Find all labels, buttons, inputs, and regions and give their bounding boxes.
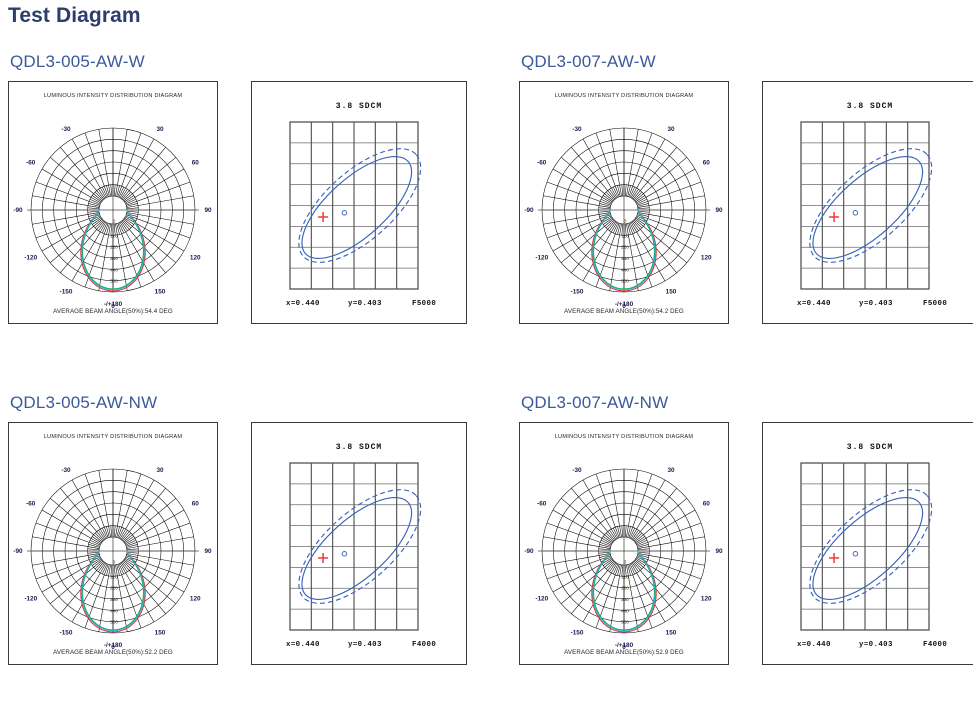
polar-radial-label: 330 (110, 597, 118, 602)
polar-radial-label: 330 (621, 256, 629, 261)
polar-angle-label: -60 (537, 160, 547, 167)
chromaticity-y-label: y=0.403 (348, 641, 382, 649)
page-title: Test Diagram (8, 4, 141, 28)
polar-angle-label: 150 (666, 630, 677, 637)
measured-point-icon (342, 552, 347, 557)
sdcm-chart: 3.8 SDCMx=0.440y=0.403F4000 (252, 423, 466, 664)
product-name: QDL3-005-AW-NW (10, 393, 467, 413)
chromaticity-x-label: x=0.440 (797, 300, 831, 308)
polar-radial-label: 550 (110, 620, 118, 625)
average-beam-angle-label: AVERAGE BEAM ANGLE(50%):52.2 DEG (53, 649, 173, 656)
luminous-intensity-panel: LUMINOUS INTENSITY DISTRIBUTION DIAGRAM-… (519, 81, 729, 324)
polar-angle-label: 120 (190, 596, 201, 603)
sdcm-panel: 3.8 SDCMx=0.440y=0.403F4000 (251, 422, 467, 665)
polar-title: LUMINOUS INTENSITY DISTRIBUTION DIAGRAM (44, 93, 183, 99)
polar-title: LUMINOUS INTENSITY DISTRIBUTION DIAGRAM (44, 434, 183, 440)
chromaticity-y-label: y=0.403 (859, 300, 893, 308)
polar-chart: LUMINOUS INTENSITY DISTRIBUTION DIAGRAM-… (9, 423, 217, 664)
cct-bin-label: F5000 (923, 300, 947, 308)
sdcm-panel: 3.8 SDCMx=0.440y=0.403F4000 (762, 422, 973, 665)
polar-chart: LUMINOUS INTENSITY DISTRIBUTION DIAGRAM-… (520, 423, 728, 664)
panel-row: LUMINOUS INTENSITY DISTRIBUTION DIAGRAM-… (8, 81, 467, 324)
polar-angle-label: 120 (190, 255, 201, 262)
average-beam-angle-label: AVERAGE BEAM ANGLE(50%):54.2 DEG (564, 308, 684, 315)
polar-angle-label: -90 (524, 207, 534, 214)
polar-radial-label: 440 (621, 267, 629, 272)
polar-radial-label: 440 (110, 608, 118, 613)
luminous-intensity-panel: LUMINOUS INTENSITY DISTRIBUTION DIAGRAM-… (8, 81, 218, 324)
polar-angle-label: 90 (715, 207, 723, 214)
polar-radial-label: 220 (110, 586, 118, 591)
sdcm-panel: 3.8 SDCMx=0.440y=0.403F5000 (251, 81, 467, 324)
sdcm-title: 3.8 SDCM (336, 443, 382, 452)
chromaticity-x-label: x=0.440 (286, 300, 320, 308)
polar-angle-label: -120 (535, 596, 548, 603)
average-beam-angle-label: AVERAGE BEAM ANGLE(50%):52.9 DEG (564, 649, 684, 656)
polar-angle-label: 150 (155, 630, 166, 637)
sdcm-title: 3.8 SDCM (336, 102, 382, 111)
polar-radial-label: 220 (621, 586, 629, 591)
target-cross-icon (318, 212, 328, 222)
cct-bin-label: F4000 (923, 641, 947, 649)
polar-radial-label: 0 (113, 560, 116, 565)
cct-bin-label: F5000 (412, 300, 436, 308)
target-cross-icon (829, 553, 839, 563)
polar-angle-label: 120 (701, 255, 712, 262)
polar-radial-label: 330 (621, 597, 629, 602)
cct-bin-label: F4000 (412, 641, 436, 649)
panel-row: LUMINOUS INTENSITY DISTRIBUTION DIAGRAM-… (519, 422, 973, 665)
measured-point-icon (853, 211, 858, 216)
polar-angle-label: -150 (571, 630, 584, 637)
polar-radial-label: 220 (110, 245, 118, 250)
measured-point-icon (853, 552, 858, 557)
polar-title: LUMINOUS INTENSITY DISTRIBUTION DIAGRAM (555, 93, 694, 99)
sdcm-panel: 3.8 SDCMx=0.440y=0.403F5000 (762, 81, 973, 324)
measured-point-icon (342, 211, 347, 216)
polar-radial-label: 550 (621, 279, 629, 284)
product-name: QDL3-005-AW-W (10, 52, 467, 72)
polar-chart: LUMINOUS INTENSITY DISTRIBUTION DIAGRAM-… (9, 82, 217, 323)
test-diagram-page: Test Diagram QDL3-005-AW-W LUMINOUS INTE… (0, 0, 973, 727)
polar-angle-label: 30 (667, 467, 675, 474)
polar-angle-label: 90 (204, 207, 212, 214)
average-beam-angle-label: AVERAGE BEAM ANGLE(50%):54.4 DEG (53, 308, 173, 315)
target-cross-icon (829, 212, 839, 222)
polar-radial-label: 110 (621, 233, 629, 238)
polar-angle-label: -30 (61, 467, 71, 474)
sdcm-chart: 3.8 SDCMx=0.440y=0.403F5000 (252, 82, 466, 323)
polar-angle-label: -120 (24, 255, 37, 262)
target-cross-icon (318, 553, 328, 563)
polar-radial-label: 550 (110, 279, 118, 284)
polar-radial-label: 440 (110, 267, 118, 272)
panel-row: LUMINOUS INTENSITY DISTRIBUTION DIAGRAM-… (519, 81, 973, 324)
product-block-1: QDL3-007-AW-W LUMINOUS INTENSITY DISTRIB… (519, 52, 973, 324)
polar-angle-label: 30 (156, 467, 164, 474)
polar-angle-label: 120 (701, 596, 712, 603)
polar-radial-label: 330 (110, 256, 118, 261)
polar-angle-label: -150 (60, 630, 73, 637)
polar-angle-label: 90 (204, 548, 212, 555)
sdcm-grid (801, 463, 929, 630)
polar-angle-label: -60 (26, 160, 36, 167)
polar-angle-label: 60 (192, 160, 200, 167)
polar-angle-label: 150 (155, 289, 166, 296)
polar-angle-label: -120 (535, 255, 548, 262)
polar-angle-label: 150 (666, 289, 677, 296)
polar-angle-label: -120 (24, 596, 37, 603)
polar-angle-label: 30 (156, 126, 164, 133)
polar-angle-label: 60 (192, 501, 200, 508)
polar-angle-label: -150 (571, 289, 584, 296)
polar-radial-label: 0 (624, 219, 627, 224)
polar-angle-label: -90 (13, 548, 23, 555)
polar-radial-label: 0 (624, 560, 627, 565)
sdcm-chart: 3.8 SDCMx=0.440y=0.403F5000 (763, 82, 973, 323)
polar-radial-label: 110 (110, 574, 118, 579)
product-block-0: QDL3-005-AW-W LUMINOUS INTENSITY DISTRIB… (8, 52, 467, 324)
polar-angle-label: -150 (60, 289, 73, 296)
chromaticity-y-label: y=0.403 (859, 641, 893, 649)
polar-radial-label: 110 (110, 233, 118, 238)
polar-chart: LUMINOUS INTENSITY DISTRIBUTION DIAGRAM-… (520, 82, 728, 323)
polar-radial-label: 0 (113, 219, 116, 224)
polar-angle-label: -90 (13, 207, 23, 214)
polar-angle-label: -30 (61, 126, 71, 133)
polar-title: LUMINOUS INTENSITY DISTRIBUTION DIAGRAM (555, 434, 694, 440)
polar-angle-label: 60 (703, 501, 711, 508)
polar-angle-label: -90 (524, 548, 534, 555)
sdcm-title: 3.8 SDCM (847, 443, 893, 452)
polar-radial-label: 440 (621, 608, 629, 613)
chromaticity-x-label: x=0.440 (797, 641, 831, 649)
panel-row: LUMINOUS INTENSITY DISTRIBUTION DIAGRAM-… (8, 422, 467, 665)
luminous-intensity-panel: LUMINOUS INTENSITY DISTRIBUTION DIAGRAM-… (519, 422, 729, 665)
sdcm-grid (801, 122, 929, 289)
sdcm-title: 3.8 SDCM (847, 102, 893, 111)
product-block-2: QDL3-005-AW-NW LUMINOUS INTENSITY DISTRI… (8, 393, 467, 665)
polar-radial-label: 220 (621, 245, 629, 250)
polar-angle-label: 90 (715, 548, 723, 555)
sdcm-grid (290, 463, 418, 630)
chromaticity-x-label: x=0.440 (286, 641, 320, 649)
chromaticity-y-label: y=0.403 (348, 300, 382, 308)
polar-angle-label: 60 (703, 160, 711, 167)
polar-angle-label: 30 (667, 126, 675, 133)
polar-angle-label: -30 (572, 126, 582, 133)
sdcm-grid (290, 122, 418, 289)
product-name: QDL3-007-AW-W (521, 52, 973, 72)
polar-angle-label: -30 (572, 467, 582, 474)
polar-angle-label: -60 (26, 501, 36, 508)
polar-radial-label: 110 (621, 574, 629, 579)
luminous-intensity-panel: LUMINOUS INTENSITY DISTRIBUTION DIAGRAM-… (8, 422, 218, 665)
product-name: QDL3-007-AW-NW (521, 393, 973, 413)
product-block-3: QDL3-007-AW-NW LUMINOUS INTENSITY DISTRI… (519, 393, 973, 665)
polar-angle-label: -60 (537, 501, 547, 508)
polar-radial-label: 550 (621, 620, 629, 625)
sdcm-chart: 3.8 SDCMx=0.440y=0.403F4000 (763, 423, 973, 664)
